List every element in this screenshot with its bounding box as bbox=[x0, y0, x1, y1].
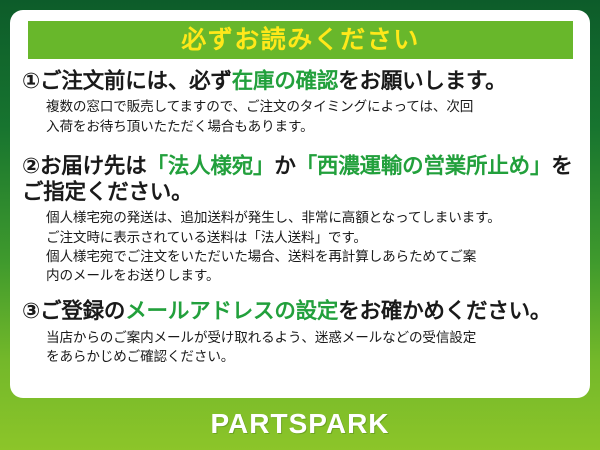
notice-item-3: ③ご登録のメールアドレスの設定をお確かめください。 当店からのご案内メールが受け… bbox=[10, 298, 590, 366]
notice-item-3-heading: ③ご登録のメールアドレスの設定をお確かめください。 bbox=[22, 298, 580, 324]
item-3-heading-highlight: メールアドレスの設定 bbox=[125, 299, 338, 323]
notice-item-1-body: 複数の窓口で販売してますので、ご注文のタイミングによっては、次回 入荷をお待ち頂… bbox=[22, 97, 580, 136]
notice-item-1: ①ご注文前には、必ず在庫の確認をお願いします。 複数の窓口で販売してますので、ご… bbox=[10, 68, 590, 136]
item-3-marker: ③ bbox=[22, 299, 40, 323]
item-1-heading-highlight: 在庫の確認 bbox=[232, 69, 339, 93]
notice-item-2-body: 個人様宅宛の発送は、追加送料が発生し、非常に高額となってしまいます。 ご注文時に… bbox=[22, 208, 580, 285]
notice-item-1-heading: ①ご注文前には、必ず在庫の確認をお願いします。 bbox=[22, 68, 580, 94]
item-2-heading-highlight: 「法人様宛」 bbox=[147, 154, 275, 178]
notice-card: 必ずお読みください ①ご注文前には、必ず在庫の確認をお願いします。 複数の窓口で… bbox=[10, 10, 590, 398]
item-3-heading-post: をお確かめください。 bbox=[338, 299, 551, 323]
item-2-marker: ② bbox=[22, 154, 40, 178]
item-1-marker: ① bbox=[22, 69, 40, 93]
notice-items-list: ①ご注文前には、必ず在庫の確認をお願いします。 複数の窓口で販売してますので、ご… bbox=[10, 68, 590, 366]
title-banner: 必ずお読みください bbox=[28, 21, 573, 59]
item-2-heading-mid: か bbox=[274, 154, 295, 178]
item-2-heading-highlight-2: 「西濃運輸の営業所止め」 bbox=[296, 154, 552, 178]
notice-item-2: ②お届け先は「法人様宛」か「西濃運輸の営業所止め」をご指定ください。 個人様宅宛… bbox=[10, 153, 590, 286]
notice-title: 必ずお読みください bbox=[181, 28, 420, 53]
notice-frame: 必ずお読みください ①ご注文前には、必ず在庫の確認をお願いします。 複数の窓口で… bbox=[0, 0, 600, 450]
item-1-heading-pre: ご注文前には、必ず bbox=[40, 69, 232, 93]
brand-footer: PARTSPARK bbox=[0, 398, 600, 450]
notice-item-3-body: 当店からのご案内メールが受け取れるよう、迷惑メールなどの受信設定 をあらかじめご… bbox=[22, 328, 580, 367]
notice-item-2-heading: ②お届け先は「法人様宛」か「西濃運輸の営業所止め」をご指定ください。 bbox=[22, 153, 580, 205]
brand-logo-text: PARTSPARK bbox=[210, 410, 389, 438]
item-2-heading-pre: お届け先は bbox=[40, 154, 147, 178]
item-3-heading-pre: ご登録の bbox=[40, 299, 125, 323]
item-1-heading-post: をお願いします。 bbox=[338, 69, 506, 93]
